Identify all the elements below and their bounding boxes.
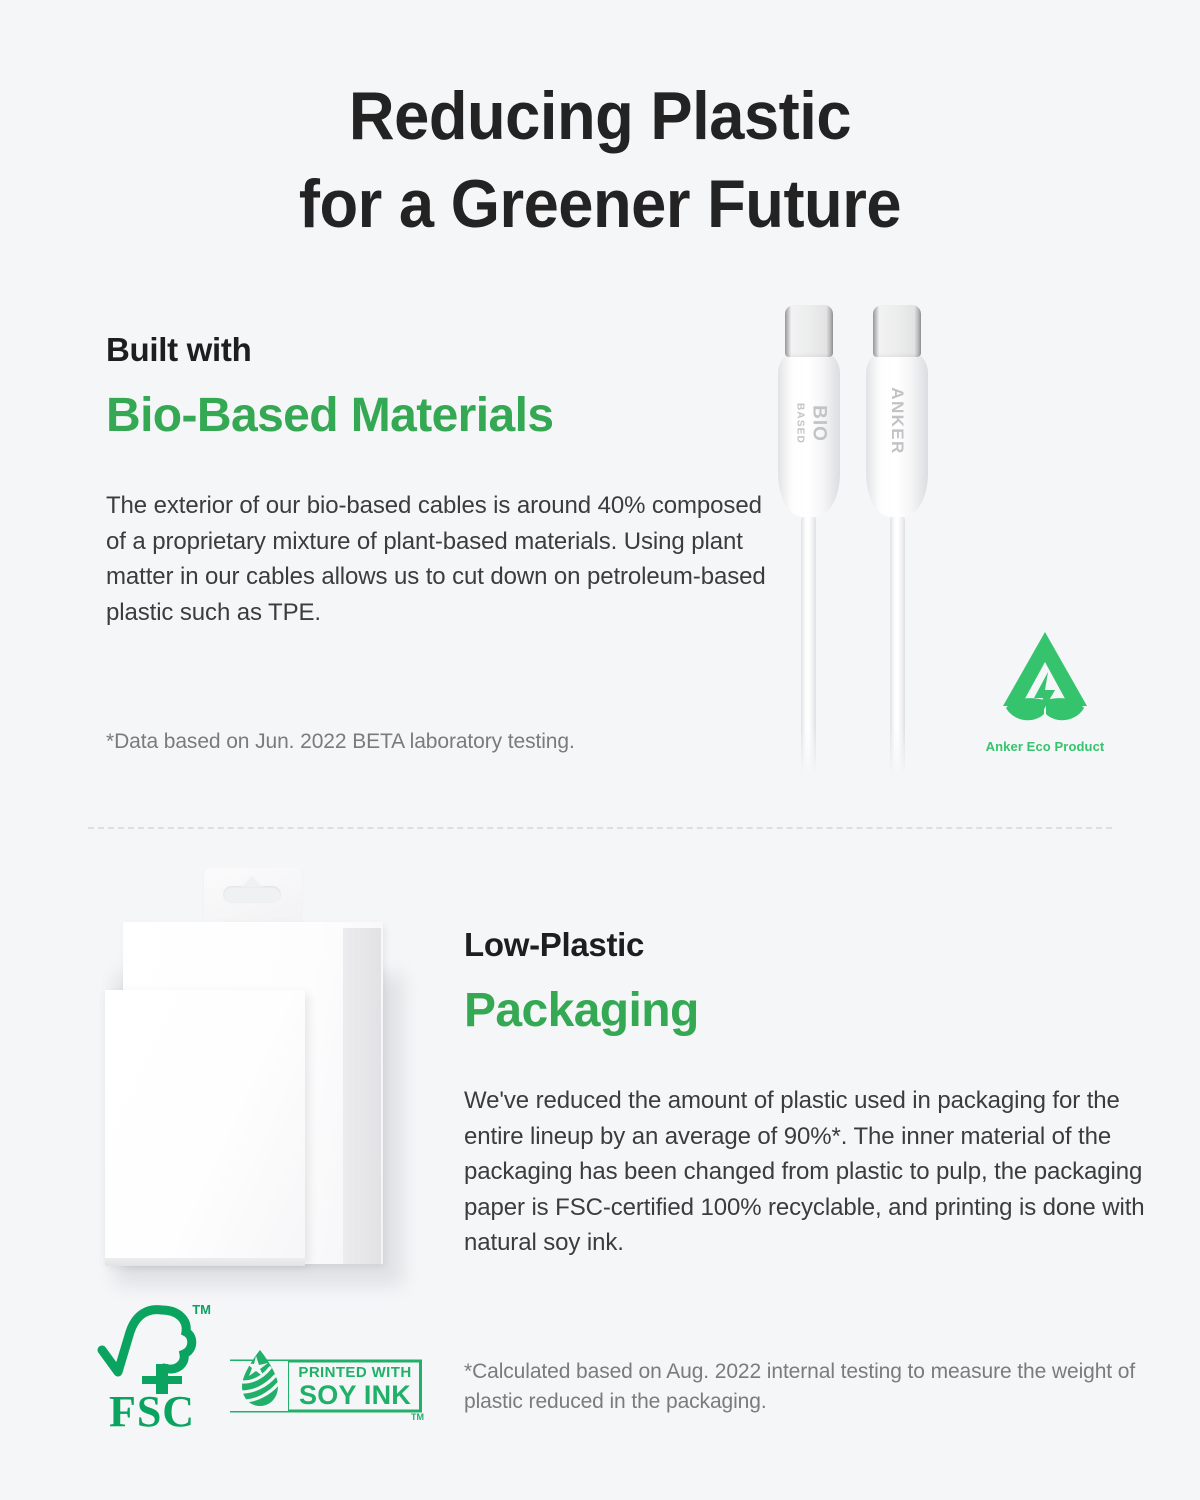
packaging-section-text: Low-Plastic Packaging We've reduced the … bbox=[464, 925, 1164, 1261]
packaging-footnote: *Calculated based on Aug. 2022 internal … bbox=[464, 1357, 1164, 1417]
anker-eco-leaf-bolt-icon bbox=[990, 628, 1100, 730]
packaging-footnote-wrap: *Calculated based on Aug. 2022 internal … bbox=[464, 1357, 1164, 1417]
packaging-headline: Packaging bbox=[464, 981, 1164, 1041]
fsc-trademark-mark: TM bbox=[192, 1302, 211, 1317]
anker-eco-product-badge: Anker Eco Product bbox=[975, 628, 1115, 754]
soy-ink-certification-logo: PRINTED WITH SOY INK TM bbox=[230, 1348, 422, 1420]
soy-ink-trademark-mark: TM bbox=[411, 1412, 424, 1422]
fsc-tree-checkmark-icon bbox=[96, 1302, 208, 1398]
anker-eco-product-caption: Anker Eco Product bbox=[975, 739, 1115, 754]
soy-droplet-icon bbox=[242, 1350, 278, 1406]
usb-c-connector-tip-icon bbox=[873, 305, 921, 357]
page-title: Reducing Plastic for a Greener Future bbox=[0, 72, 1200, 248]
plug-label-bio-line1: BIO bbox=[809, 405, 830, 442]
soy-ink-line-1: PRINTED WITH bbox=[296, 1364, 414, 1381]
cable-cord-right bbox=[890, 513, 905, 775]
plug-label-bio-line2: BASED bbox=[791, 403, 809, 444]
soy-ink-line-2: SOY INK bbox=[296, 1381, 414, 1409]
fsc-certification-logo: TM FSC bbox=[96, 1302, 208, 1434]
page-title-line-2: for a Greener Future bbox=[42, 160, 1158, 248]
plug-label-anker: ANKER bbox=[887, 387, 907, 454]
packaging-box-image bbox=[85, 862, 425, 1302]
packaging-hang-hole bbox=[223, 886, 281, 903]
section-divider bbox=[88, 827, 1112, 829]
usb-c-plug-anker: ANKER bbox=[866, 305, 928, 517]
packaging-body: We've reduced the amount of plastic used… bbox=[464, 1083, 1164, 1261]
cable-cord-left bbox=[801, 513, 816, 775]
bio-based-section-text: Built with Bio-Based Materials The exter… bbox=[106, 330, 766, 630]
bio-based-body: The exterior of our bio-based cables is … bbox=[106, 488, 766, 630]
bio-based-footnote-wrap: *Data based on Jun. 2022 BETA laboratory… bbox=[106, 727, 806, 757]
usb-c-plug-bio-based: BIO BASED bbox=[778, 305, 840, 517]
bio-based-footnote: *Data based on Jun. 2022 BETA laboratory… bbox=[106, 727, 806, 757]
usb-c-cable-image: BIO BASED ANKER bbox=[770, 305, 950, 775]
bio-based-headline: Bio-Based Materials bbox=[106, 386, 766, 446]
packaging-front-panel bbox=[105, 990, 305, 1262]
fsc-wordmark: FSC bbox=[96, 1390, 208, 1434]
packaging-eyebrow: Low-Plastic bbox=[464, 925, 1164, 965]
plug-label-bio-based: BIO BASED bbox=[791, 403, 828, 444]
page-title-line-1: Reducing Plastic bbox=[42, 72, 1158, 160]
usb-c-connector-tip-icon bbox=[785, 305, 833, 357]
bio-based-eyebrow: Built with bbox=[106, 330, 766, 370]
packaging-side-panel bbox=[343, 928, 381, 1264]
usb-c-plug-housing: ANKER bbox=[866, 349, 928, 517]
packaging-front-edge bbox=[105, 1258, 305, 1266]
usb-c-plug-housing: BIO BASED bbox=[778, 349, 840, 517]
